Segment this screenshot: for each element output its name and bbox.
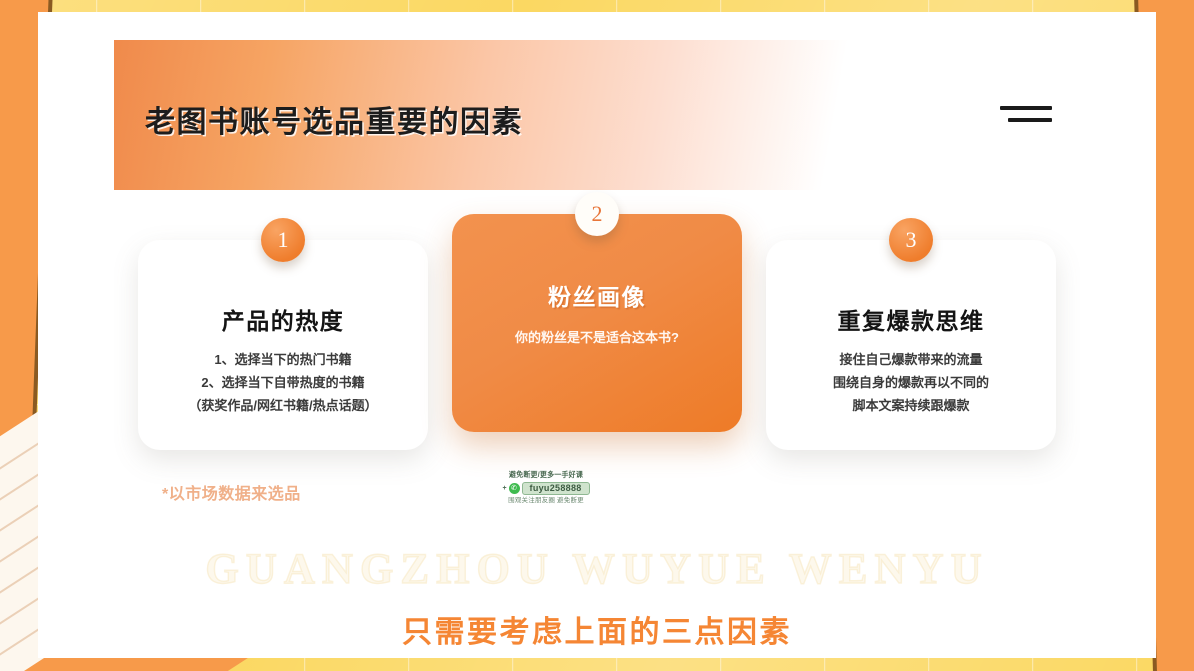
card-title: 重复爆款思维 <box>766 302 1056 336</box>
card-title: 产品的热度 <box>138 302 428 336</box>
card-body: 1、选择当下的热门书籍 2、选择当下自带热度的书籍 （获奖作品/网红书籍/热点话… <box>150 348 416 417</box>
factor-card-3[interactable]: 3 重复爆款思维 接住自己爆款带来的流量 围绕自身的爆款再以不同的 脚本文案持续… <box>766 240 1056 450</box>
card-line: 你的粉丝是不是适合这本书? <box>464 326 730 349</box>
contact-top-line: 避免断更/更多一手好课 <box>485 472 607 479</box>
footnote-text: *以市场数据来选品 <box>162 480 301 504</box>
card-line: 1、选择当下的热门书籍 <box>150 348 416 371</box>
card-title: 粉丝画像 <box>452 278 742 312</box>
card-body: 你的粉丝是不是适合这本书? <box>464 326 730 349</box>
menu-line <box>1008 118 1052 122</box>
slide-background: 老图书账号选品重要的因素 1 产品的热度 1、选择当下的热门书籍 2、选择当下自… <box>0 0 1194 671</box>
card-body: 接住自己爆款带来的流量 围绕自身的爆款再以不同的 脚本文案持续跟爆款 <box>778 348 1044 417</box>
page-title: 老图书账号选品重要的因素 <box>145 97 523 141</box>
wechat-icon: ✆ <box>509 483 520 494</box>
card-line: 脚本文案持续跟爆款 <box>778 394 1044 417</box>
bottom-caption: 只需要考虑上面的三点因素 <box>0 607 1194 651</box>
hamburger-menu-icon[interactable] <box>1000 106 1052 126</box>
card-number-badge: 2 <box>575 192 619 236</box>
factor-cards: 1 产品的热度 1、选择当下的热门书籍 2、选择当下自带热度的书籍 （获奖作品/… <box>114 200 1080 460</box>
card-line: 围绕自身的爆款再以不同的 <box>778 371 1044 394</box>
slide-content-board: 老图书账号选品重要的因素 1 产品的热度 1、选择当下的热门书籍 2、选择当下自… <box>114 40 1080 595</box>
card-line: 接住自己爆款带来的流量 <box>778 348 1044 371</box>
contact-bottom-line: 围观关注朋友圈 避免断更 <box>485 498 607 505</box>
watermark-text: GUANGZHOU WUYUE WENYU <box>114 545 1080 594</box>
card-number-badge: 1 <box>261 218 305 262</box>
plus-sign: + <box>502 485 506 492</box>
contact-id: fuyu258888 <box>522 482 590 495</box>
factor-card-2[interactable]: 2 粉丝画像 你的粉丝是不是适合这本书? <box>452 214 742 432</box>
card-number-badge: 3 <box>889 218 933 262</box>
contact-id-row: + ✆ fuyu258888 <box>485 482 607 495</box>
card-line: （获奖作品/网红书籍/热点话题） <box>150 394 416 417</box>
factor-card-1[interactable]: 1 产品的热度 1、选择当下的热门书籍 2、选择当下自带热度的书籍 （获奖作品/… <box>138 240 428 450</box>
menu-line <box>1000 106 1052 110</box>
card-line: 2、选择当下自带热度的书籍 <box>150 371 416 394</box>
contact-badge: 避免断更/更多一手好课 + ✆ fuyu258888 围观关注朋友圈 避免断更 <box>485 472 607 505</box>
